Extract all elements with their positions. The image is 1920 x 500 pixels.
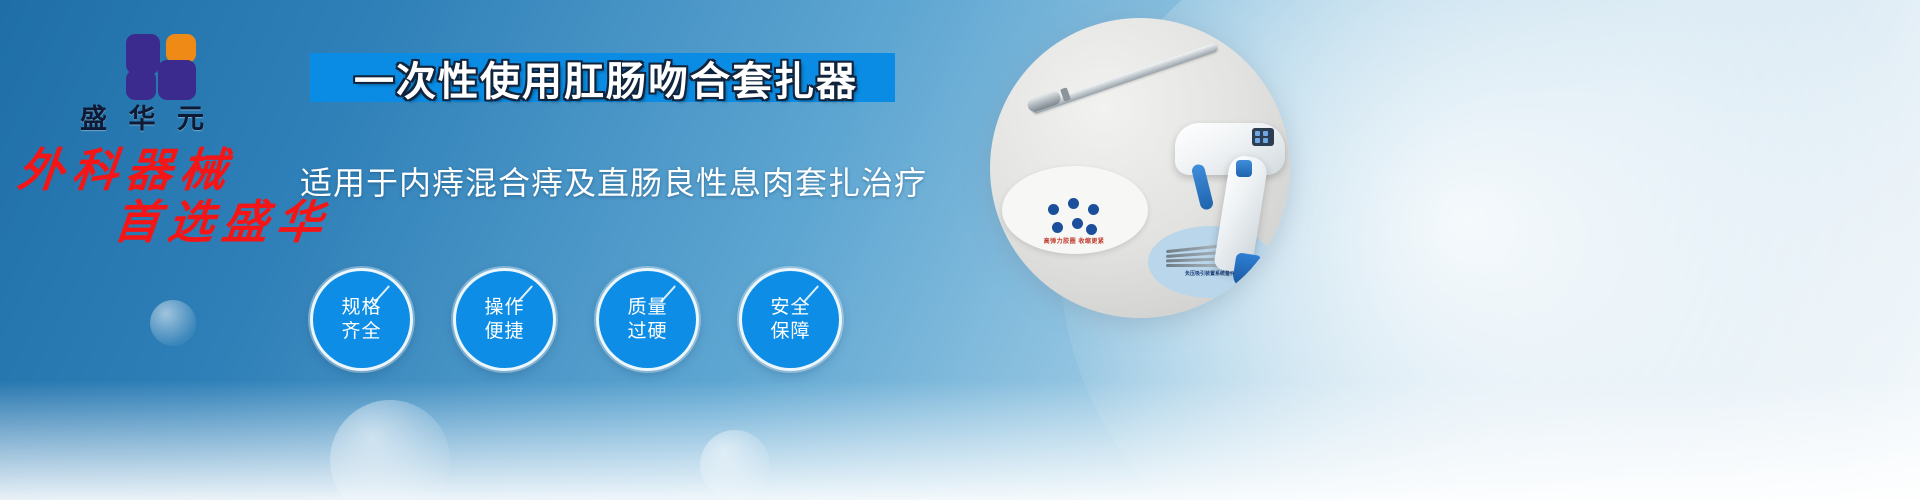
feature-badge-line-2: 保障 [770,320,810,344]
feature-badge-line-2: 便捷 [484,320,524,344]
brand-logo[interactable]: 盛 华 元 [62,28,222,133]
sheen-icon [517,285,533,303]
page-title: 一次性使用肛肠吻合套扎器 [326,50,886,105]
sheen-icon [374,285,390,303]
decorative-bubble [150,300,196,346]
feature-badge[interactable]: 操作 便捷 [453,268,556,371]
feature-badge-list: 规格 齐全 操作 便捷 质量 过硬 安全 保障 [310,268,842,371]
promo-banner: 盛 华 元 外科器械 首选盛华 一次性使用肛肠吻合套扎器 适用于内痔混合痔及直肠… [0,0,1920,500]
slogan-line-2: 首选盛华 [111,198,350,246]
feature-badge[interactable]: 规格 齐全 [310,268,413,371]
ligator-instrument [990,18,1290,318]
instrument-panel [1252,128,1274,146]
logo-wordmark: 盛 华 元 [62,106,222,133]
instrument-grip-end [1232,252,1263,290]
decorative-bubble [700,430,770,500]
decorative-bubble [330,400,450,500]
feature-badge-line-2: 齐全 [341,320,381,344]
instrument-shaft [1031,42,1219,114]
page-subtitle: 适用于内痔混合痔及直肠良性息肉套扎治疗 [300,158,900,204]
sheen-icon [660,285,676,303]
feature-badge[interactable]: 安全 保障 [739,268,842,371]
feature-badge[interactable]: 质量 过硬 [596,268,699,371]
instrument-side-button [1236,160,1252,177]
logo-mark-icon [96,28,188,100]
feature-badge-line-2: 过硬 [627,320,667,344]
product-photo: 高弹力胶圈 收缩更紧 负压吸引装置系统备件 [990,18,1290,318]
calligraphy-slogan: 外科器械 首选盛华 [18,146,348,247]
bottom-fade [0,380,1920,500]
sheen-icon [803,285,819,303]
